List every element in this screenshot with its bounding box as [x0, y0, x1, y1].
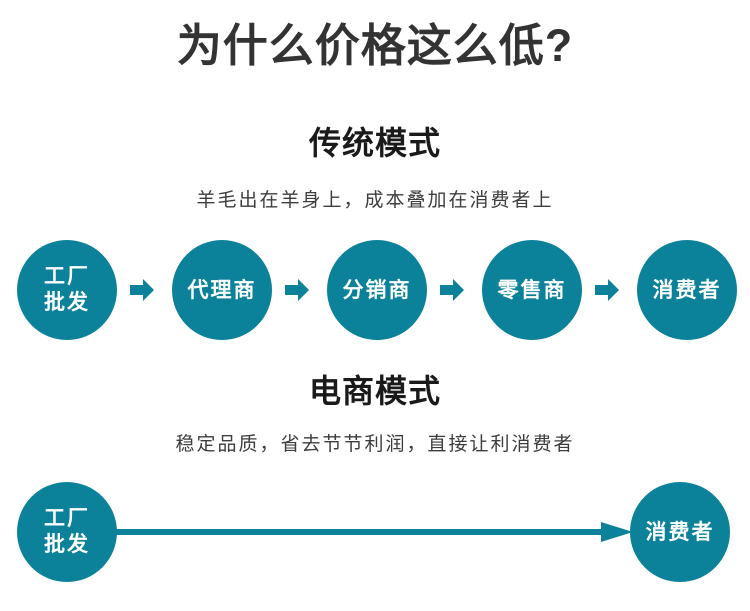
flow-node-agent: 代理商 [172, 240, 272, 340]
flow-node-consumer: 消费者 [637, 240, 737, 340]
section-heading-traditional: 传统模式 [0, 122, 750, 164]
page-title: 为什么价格这么低? [0, 18, 750, 74]
infographic-page: 为什么价格这么低? 传统模式 羊毛出在羊身上，成本叠加在消费者上 工厂 批发 代… [0, 0, 750, 611]
flow-node-label: 分销商 [343, 278, 412, 303]
flow-diagram-ecommerce: 工厂 批发 消费者 [0, 482, 750, 582]
flow-node-label: 消费者 [653, 278, 722, 303]
section-caption-traditional: 羊毛出在羊身上，成本叠加在消费者上 [0, 188, 750, 214]
flow-node-retailer: 零售商 [482, 240, 582, 340]
flow-node-factory-wholesale: 工厂 批发 [17, 240, 117, 340]
flow-node-label: 消费者 [646, 520, 715, 545]
arrow-right-icon [595, 279, 619, 301]
arrow-right-icon [285, 279, 309, 301]
flow-node-consumer: 消费者 [630, 482, 730, 582]
flow-node-distributor: 分销商 [327, 240, 427, 340]
flow-node-label: 零售商 [498, 278, 567, 303]
section-caption-ecommerce: 稳定品质，省去节节利润，直接让利消费者 [0, 432, 750, 458]
flow-node-label: 工厂 批发 [44, 506, 90, 558]
arrow-right-icon [130, 279, 154, 301]
flow-node-label: 代理商 [188, 278, 257, 303]
section-heading-ecommerce: 电商模式 [0, 370, 750, 412]
long-arrow-right-icon [93, 520, 633, 544]
flow-node-label: 工厂 批发 [44, 264, 90, 316]
flow-diagram-traditional: 工厂 批发 代理商 分销商 零售商 [0, 240, 750, 340]
arrow-right-icon [440, 279, 464, 301]
